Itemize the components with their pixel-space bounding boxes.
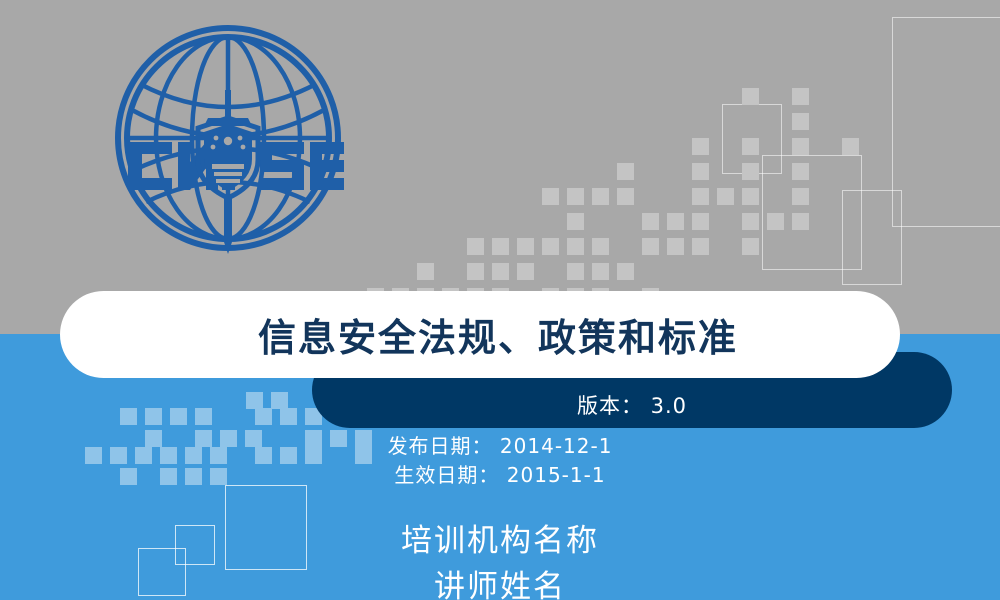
- decor-square-gray-18: [792, 188, 809, 205]
- decor-square-gray-2: [792, 113, 809, 130]
- decor-square-blue-2: [120, 408, 137, 425]
- decor-square-gray-27: [492, 238, 509, 255]
- decor-square-gray-32: [642, 238, 659, 255]
- page-title: 信息安全法规、政策和标准: [60, 291, 900, 378]
- decor-square-blue-3: [145, 408, 162, 425]
- decor-square-gray-24: [767, 213, 784, 230]
- decor-square-gray-41: [592, 263, 609, 280]
- decor-square-gray-21: [667, 213, 684, 230]
- decor-square-gray-6: [842, 138, 859, 155]
- decor-square-blue-7: [280, 408, 297, 425]
- instructor-name: 讲师姓名: [0, 564, 1000, 600]
- decor-square-gray-4: [742, 138, 759, 155]
- training-organization-name: 培训机构名称: [0, 518, 1000, 564]
- decor-square-gray-13: [592, 188, 609, 205]
- decor-square-gray-39: [517, 263, 534, 280]
- decor-square-blue-1: [271, 392, 288, 409]
- decor-square-blue-6: [255, 408, 272, 425]
- decor-outline-rect-gray-0: [892, 17, 1000, 227]
- decor-square-gray-19: [567, 213, 584, 230]
- decor-square-gray-35: [742, 238, 759, 255]
- decor-square-gray-3: [692, 138, 709, 155]
- decor-square-gray-22: [692, 213, 709, 230]
- slide-canvas: 版本： 3.0 信息安全法规、政策和标准 发布日期： 2014-12-1 生效日…: [0, 0, 1000, 600]
- decor-square-blue-0: [246, 392, 263, 409]
- decor-square-gray-10: [792, 163, 809, 180]
- effective-date: 生效日期： 2015-1-1: [0, 461, 1000, 490]
- decor-square-blue-4: [170, 408, 187, 425]
- decor-square-gray-31: [592, 238, 609, 255]
- publish-date: 发布日期： 2014-12-1: [0, 432, 1000, 461]
- decor-square-gray-34: [692, 238, 709, 255]
- decor-square-gray-29: [542, 238, 559, 255]
- decor-square-gray-33: [667, 238, 684, 255]
- decor-square-gray-28: [517, 238, 534, 255]
- decor-outline-rect-gray-3: [842, 190, 902, 285]
- decor-square-gray-1: [792, 88, 809, 105]
- decor-square-gray-20: [642, 213, 659, 230]
- decor-square-gray-11: [542, 188, 559, 205]
- decor-square-gray-38: [492, 263, 509, 280]
- decor-square-gray-12: [567, 188, 584, 205]
- decor-square-gray-9: [742, 163, 759, 180]
- decor-square-gray-23: [742, 213, 759, 230]
- decor-square-gray-0: [742, 88, 759, 105]
- decor-square-gray-16: [717, 188, 734, 205]
- decor-square-gray-7: [617, 163, 634, 180]
- decor-square-gray-26: [467, 238, 484, 255]
- decor-square-gray-42: [617, 263, 634, 280]
- date-block: 发布日期： 2014-12-1 生效日期： 2015-1-1: [0, 432, 1000, 490]
- footer-block: 培训机构名称 讲师姓名: [0, 518, 1000, 600]
- decor-square-gray-15: [692, 188, 709, 205]
- cnisec-logo: [112, 22, 344, 254]
- decor-square-gray-36: [417, 263, 434, 280]
- decor-square-gray-8: [692, 163, 709, 180]
- decor-square-gray-17: [742, 188, 759, 205]
- decor-square-gray-14: [617, 188, 634, 205]
- decor-square-blue-5: [195, 408, 212, 425]
- decor-square-gray-37: [467, 263, 484, 280]
- decor-square-gray-30: [567, 238, 584, 255]
- decor-square-gray-5: [792, 138, 809, 155]
- decor-square-gray-40: [567, 263, 584, 280]
- decor-square-gray-25: [792, 213, 809, 230]
